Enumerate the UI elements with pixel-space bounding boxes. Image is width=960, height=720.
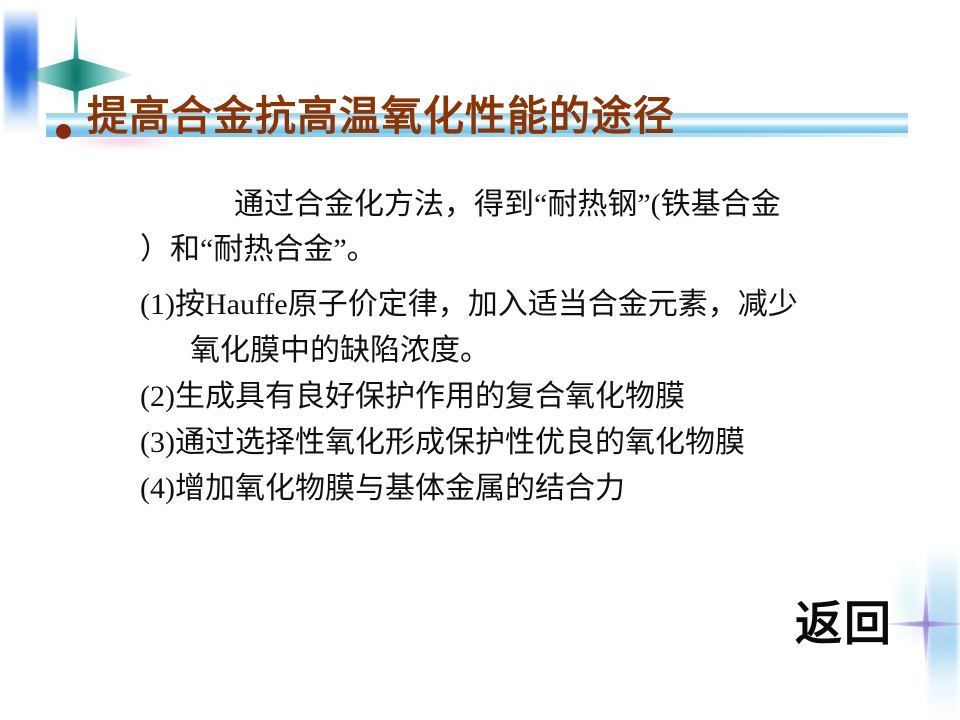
list-item-line: (1)按Hauffe原子价定律，加入适当合金元素，减少	[140, 282, 930, 328]
list-item-text: 按Hauffe原子价定律，加入适当合金元素，减少	[175, 288, 798, 321]
right-blue-gradient-bar	[928, 548, 958, 718]
slide-title-block: 提高合金抗高温氧化性能的途径	[0, 88, 960, 144]
page-title: 提高合金抗高温氧化性能的途径	[87, 88, 675, 144]
list-item-line: (3)通过选择性氧化形成保护性优良的氧化物膜	[140, 420, 930, 466]
slide-canvas: 提高合金抗高温氧化性能的途径 通过合金化方法，得到“耐热钢”(铁基合金 ）和“耐…	[0, 0, 960, 720]
intro-line-1: 通过合金化方法，得到“耐热钢”(铁基合金	[234, 188, 781, 221]
list-item-text: 通过选择性氧化形成保护性优良的氧化物膜	[175, 426, 745, 459]
bullet-dot-icon	[56, 124, 71, 139]
right-cyan-glow	[888, 556, 932, 646]
list-item-text: 生成具有良好保护作用的复合氧化物膜	[175, 380, 685, 413]
return-button[interactable]: 返回	[795, 596, 893, 652]
list-item-continuation: 氧化膜中的缺陷浓度。	[190, 328, 930, 374]
list-item: (4)增加氧化物膜与基体金属的结合力	[140, 466, 930, 512]
sparkle-vertical-ray	[923, 579, 929, 669]
list-item: (1)按Hauffe原子价定律，加入适当合金元素，减少 氧化膜中的缺陷浓度。	[140, 282, 930, 374]
list-item-marker: (2)	[140, 380, 175, 413]
list-item-text: 增加氧化物膜与基体金属的结合力	[175, 472, 625, 505]
slide-body: 通过合金化方法，得到“耐热钢”(铁基合金 ）和“耐热合金”。 (1)按Hauff…	[140, 182, 930, 512]
list-item-line: (4)增加氧化物膜与基体金属的结合力	[140, 466, 930, 512]
sparkle-glow	[896, 594, 956, 654]
list-item-line: (2)生成具有良好保护作用的复合氧化物膜	[140, 374, 930, 420]
title-row: 提高合金抗高温氧化性能的途径	[56, 88, 675, 144]
list-item: (2)生成具有良好保护作用的复合氧化物膜	[140, 374, 930, 420]
list-item-marker: (3)	[140, 426, 175, 459]
intro-paragraph: 通过合金化方法，得到“耐热钢”(铁基合金 ）和“耐热合金”。	[140, 182, 930, 272]
sparkle-horizontal-ray	[17, 58, 135, 92]
list-item-marker: (4)	[140, 472, 175, 505]
intro-line-2: ）和“耐热合金”。	[140, 227, 930, 272]
list-item: (3)通过选择性氧化形成保护性优良的氧化物膜	[140, 420, 930, 466]
list-item-marker: (1)	[140, 288, 175, 321]
